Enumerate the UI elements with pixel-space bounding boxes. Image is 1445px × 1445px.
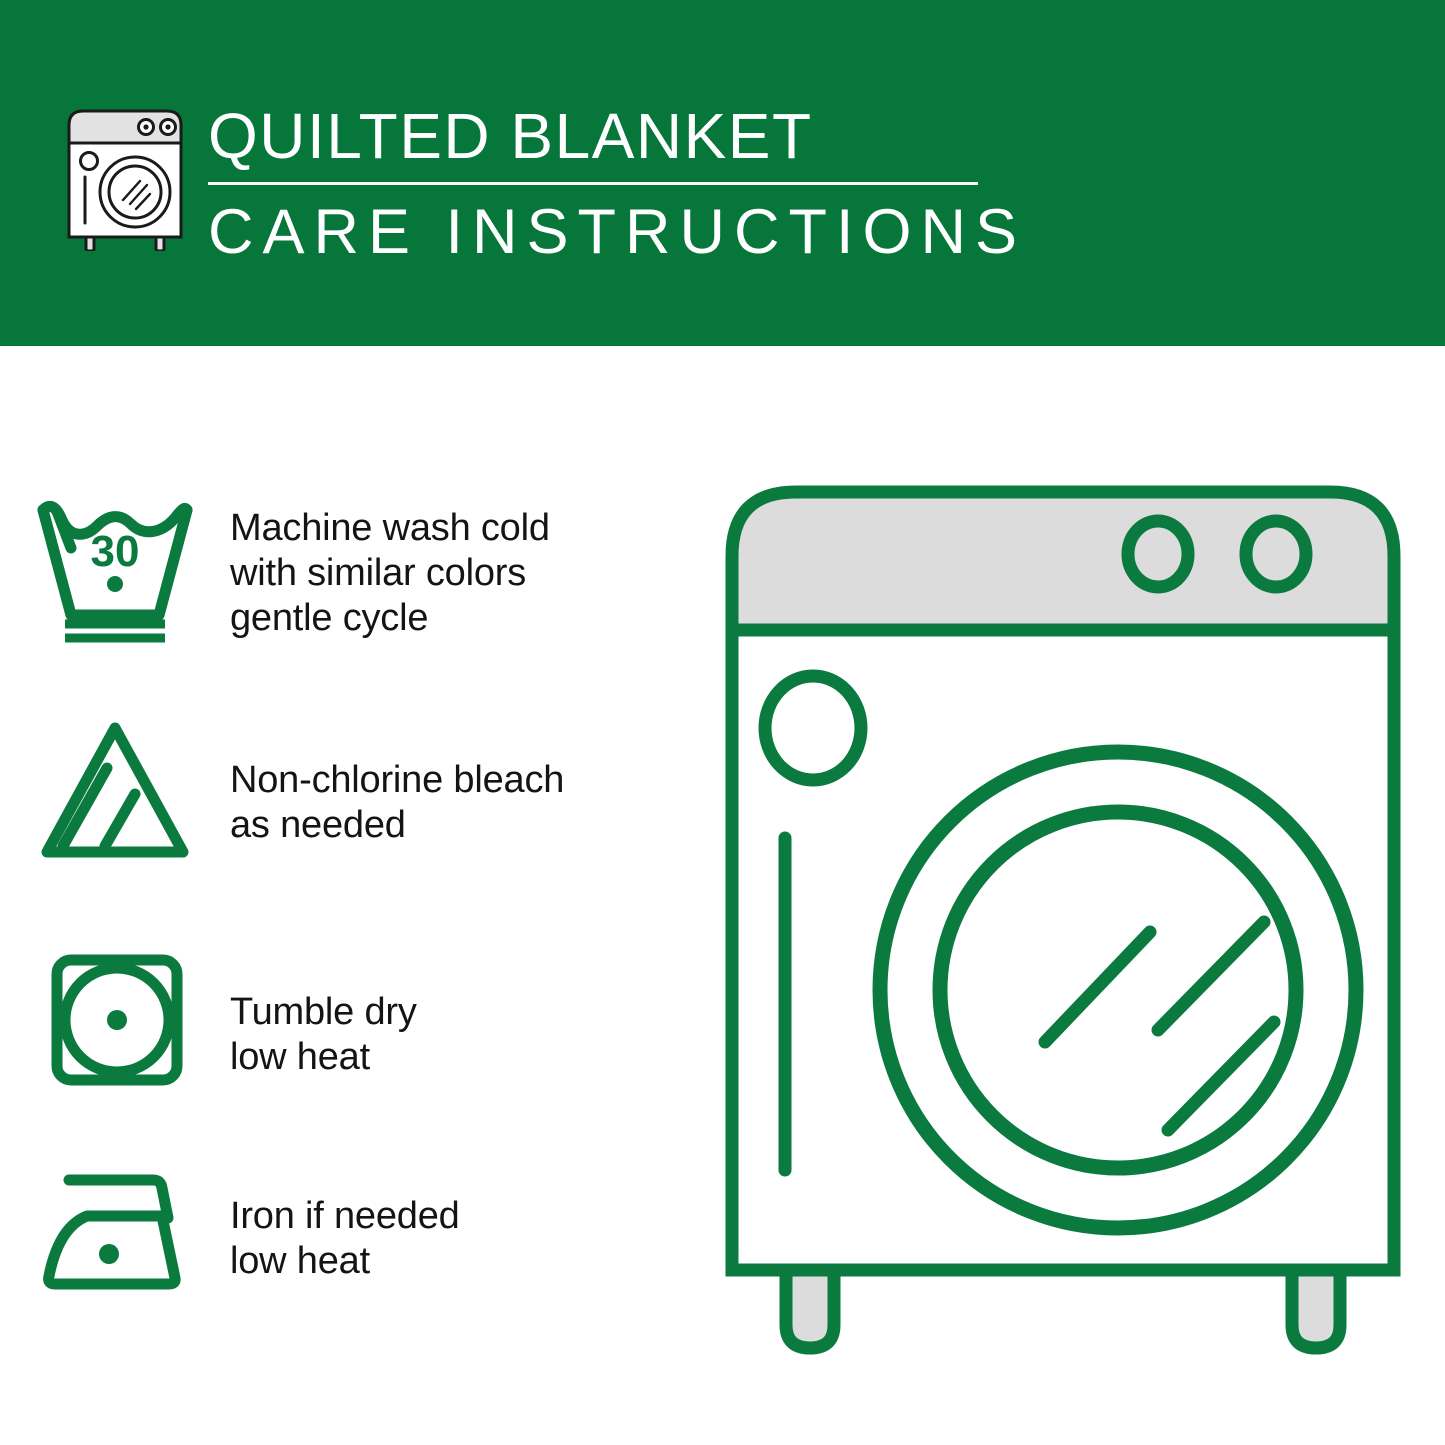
header-text-block: QUILTED BLANKET CARE INSTRUCTIONS [208,100,998,267]
list-item: Tumble dry low heat [0,946,720,1096]
care-text-line: Machine wash cold [230,506,720,551]
list-item: Non-chlorine bleach as needed [0,716,720,866]
header-band: QUILTED BLANKET CARE INSTRUCTIONS [0,0,1445,346]
iron-low-heat-icon [0,1154,230,1304]
care-text-line: Tumble dry [230,990,720,1035]
washing-machine-illustration [718,470,1408,1370]
list-item: Iron if needed low heat [0,1154,720,1304]
page-subtitle: CARE INSTRUCTIONS [208,197,998,267]
care-instructions-page: QUILTED BLANKET CARE INSTRUCTIONS 30 [0,0,1445,1445]
care-instruction-text: Tumble dry low heat [230,946,720,1080]
care-text-line: low heat [230,1035,720,1080]
tumble-dry-low-icon [0,946,230,1096]
washing-machine-icon [64,103,186,251]
page-title: QUILTED BLANKET [208,100,998,172]
list-item: 30 Machine wash cold with similar colors… [0,496,720,646]
care-text-line: with similar colors [230,551,720,596]
care-text-line: as needed [230,803,720,848]
care-text-line: Non-chlorine bleach [230,758,720,803]
care-text-line: gentle cycle [230,596,720,641]
care-instruction-text: Machine wash cold with similar colors ge… [230,496,720,641]
care-instruction-text: Non-chlorine bleach as needed [230,716,720,848]
care-instruction-list: 30 Machine wash cold with similar colors… [0,346,720,1445]
non-chlorine-bleach-triangle-icon [0,716,230,866]
title-divider [208,182,978,185]
care-text-line: Iron if needed [230,1194,720,1239]
wash-tub-30-gentle-icon: 30 [0,496,230,646]
care-text-line: low heat [230,1239,720,1284]
care-instruction-text: Iron if needed low heat [230,1154,720,1284]
wash-temperature-label: 30 [91,527,140,576]
